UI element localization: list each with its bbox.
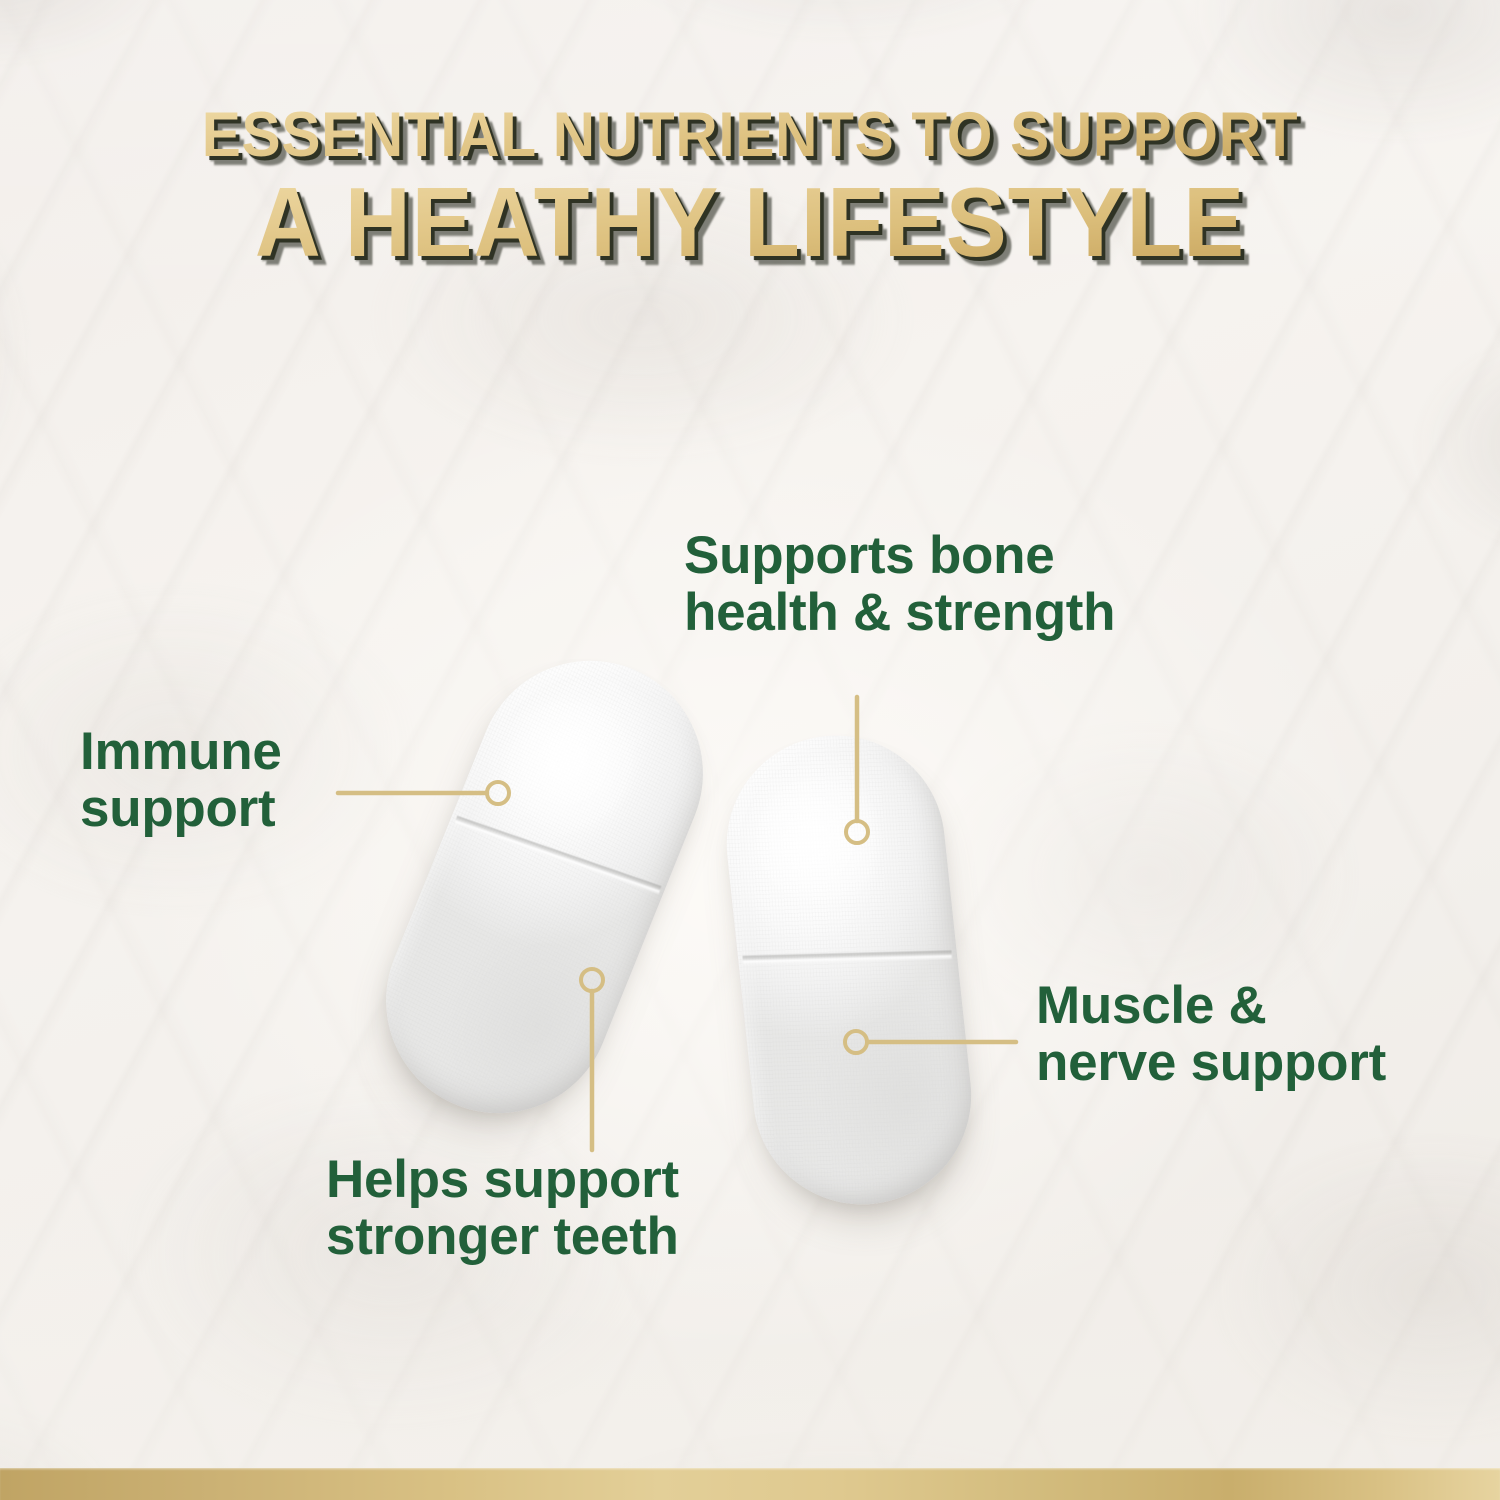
callout-label-immune: Immune support <box>80 724 282 837</box>
pill-tablet-right <box>716 725 982 1215</box>
promo-image-canvas: ESSENTIAL NUTRIENTS TO SUPPORT A HEATHY … <box>0 0 1500 1500</box>
callout-label-bone: Supports bone health & strength <box>684 528 1115 641</box>
callout-label-teeth: Helps support stronger teeth <box>326 1152 679 1265</box>
callout-label-muscle: Muscle & nerve support <box>1036 978 1386 1091</box>
footer-gold-bar <box>0 1468 1500 1500</box>
pill-tablet-left <box>352 627 737 1147</box>
